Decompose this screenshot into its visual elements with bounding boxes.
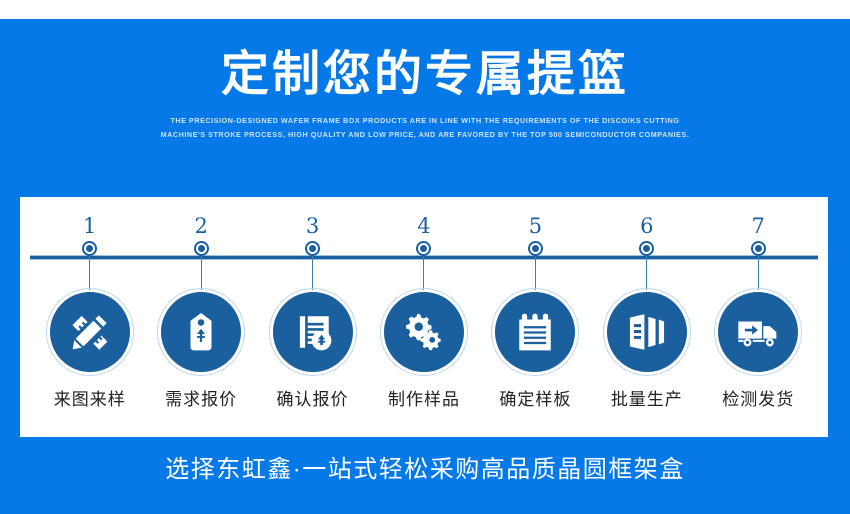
- step-number: 3: [306, 215, 319, 237]
- step-icon-bubble[interactable]: [606, 291, 688, 373]
- step-number: 2: [194, 215, 207, 237]
- delivery-truck-icon: [737, 311, 779, 353]
- process-panel: 1 来图来样 2: [20, 197, 828, 437]
- step-label: 批量生产: [611, 390, 683, 410]
- timeline-dot: [305, 241, 320, 256]
- step-icon-bubble[interactable]: [272, 291, 354, 373]
- step-connector: [758, 256, 759, 290]
- step-number: 1: [83, 215, 96, 237]
- batch-production-icon: [626, 311, 668, 353]
- step-label: 确认报价: [277, 390, 349, 410]
- step-label: 来图来样: [54, 390, 126, 410]
- timeline-dot: [82, 241, 97, 256]
- step-connector: [312, 256, 313, 290]
- step-label: 检测发货: [722, 390, 794, 410]
- notepad-icon: [514, 311, 556, 353]
- process-steps: 1 来图来样 2: [20, 197, 828, 437]
- document-yen-icon: [292, 311, 334, 353]
- step-label: 确定样板: [499, 390, 571, 410]
- promo-banner: 定制您的专属提篮 THE PRECISION-DESIGNED WAFER FR…: [0, 19, 850, 514]
- process-step-3[interactable]: 3 确认报价: [257, 197, 368, 410]
- gears-icon: [403, 311, 445, 353]
- page-subtitle: THE PRECISION-DESIGNED WAFER FRAME BOX P…: [147, 114, 703, 142]
- step-icon-bubble[interactable]: [160, 291, 242, 373]
- process-step-6[interactable]: 6 批量生产: [591, 197, 702, 410]
- step-number: 6: [640, 215, 653, 237]
- banner-header: 定制您的专属提篮 THE PRECISION-DESIGNED WAFER FR…: [0, 19, 850, 142]
- process-step-4[interactable]: 4 制作样品: [368, 197, 479, 410]
- step-number: 7: [752, 215, 765, 237]
- pencil-ruler-icon: [69, 311, 111, 353]
- step-number: 4: [417, 215, 430, 237]
- step-connector: [535, 256, 536, 290]
- step-icon-bubble[interactable]: [383, 291, 465, 373]
- timeline-dot: [639, 241, 654, 256]
- process-step-1[interactable]: 1 来图来样: [34, 197, 145, 410]
- step-icon-bubble[interactable]: [49, 291, 131, 373]
- timeline-dot: [416, 241, 431, 256]
- step-connector: [89, 256, 90, 290]
- page-title: 定制您的专属提篮: [0, 44, 850, 104]
- timeline-dot: [528, 241, 543, 256]
- step-number: 5: [529, 215, 542, 237]
- step-icon-bubble[interactable]: [494, 291, 576, 373]
- step-icon-bubble[interactable]: [717, 291, 799, 373]
- step-connector: [423, 256, 424, 290]
- step-connector: [646, 256, 647, 290]
- timeline-dot: [751, 241, 766, 256]
- price-tag-yen-icon: [180, 311, 222, 353]
- process-step-2[interactable]: 2 需求报价: [145, 197, 256, 410]
- process-step-7[interactable]: 7: [703, 197, 814, 410]
- step-label: 制作样品: [388, 390, 460, 410]
- timeline-dot: [194, 241, 209, 256]
- step-connector: [201, 256, 202, 290]
- process-step-5[interactable]: 5 确定样板: [480, 197, 591, 410]
- footer-slogan: 选择东虹鑫·一站式轻松采购高品质晶圆框架盒: [0, 453, 850, 487]
- step-label: 需求报价: [165, 390, 237, 410]
